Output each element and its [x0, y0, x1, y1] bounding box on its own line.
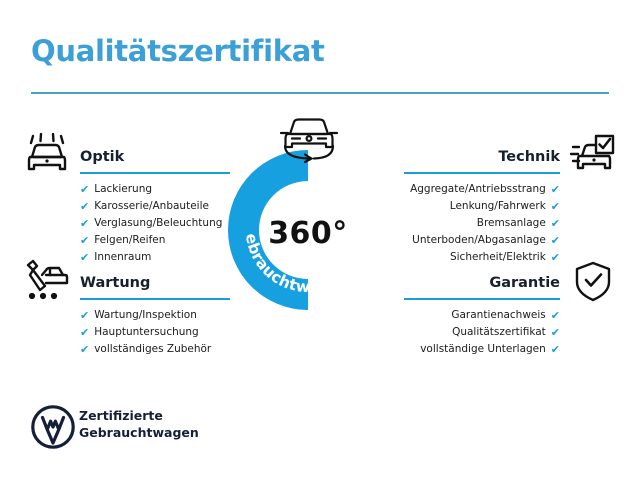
check-icon: ✔: [80, 181, 89, 198]
list-item-label: Unterboden/Abgasanlage: [412, 232, 546, 249]
check-icon: ✔: [551, 249, 560, 266]
car-checkbox-icon: [569, 134, 615, 176]
list-item: Lenkung/Fahrwerk✔: [404, 198, 560, 215]
list-item: ✔Lackierung: [80, 181, 230, 198]
car-rotation-icon: [274, 113, 344, 165]
list-item-label: Innenraum: [94, 249, 151, 266]
header-divider: [31, 92, 609, 94]
section-garantie: Garantie Garantienachweis✔ Qualitätszert…: [404, 266, 560, 358]
section-technik-title: Technik: [498, 149, 560, 165]
list-item-label: Wartung/Inspektion: [94, 307, 197, 324]
list-item-label: Sicherheit/Elektrik: [450, 249, 546, 266]
badge-360-gebrauchtwagen-check: Gebrauchtwagen-Check 360°: [228, 150, 388, 310]
page-title: Qualitätszertifikat: [31, 34, 325, 68]
section-optik-title: Optik: [80, 149, 124, 165]
section-wartung-items: ✔Wartung/Inspektion ✔Hauptuntersuchung ✔…: [80, 307, 230, 358]
check-icon: ✔: [551, 307, 560, 324]
check-icon: ✔: [80, 307, 89, 324]
section-wartung-underline: [80, 298, 230, 300]
list-item: Bremsanlage✔: [404, 215, 560, 232]
section-technik-items: Aggregate/Antriebsstrang✔ Lenkung/Fahrwe…: [404, 181, 560, 266]
list-item-label: Garantienachweis: [451, 307, 545, 324]
badge-degree-label: 360°: [228, 150, 388, 310]
list-item: ✔vollständiges Zubehör: [80, 341, 230, 358]
section-optik-header: Optik: [80, 140, 230, 174]
check-icon: ✔: [551, 232, 560, 249]
check-icon: ✔: [80, 324, 89, 341]
list-item-label: Karosserie/Anbauteile: [94, 198, 209, 215]
list-item-label: vollständige Unterlagen: [420, 341, 546, 358]
check-icon: ✔: [551, 341, 560, 358]
list-item: Sicherheit/Elektrik✔: [404, 249, 560, 266]
check-icon: ✔: [551, 215, 560, 232]
vw-logo: [31, 405, 75, 453]
section-optik: Optik ✔Lackierung ✔Karosserie/Anbauteile…: [80, 140, 230, 266]
list-item-label: Lenkung/Fahrwerk: [450, 198, 546, 215]
footer-logo-text: Zertifizierte Gebrauchtwagen: [79, 408, 199, 441]
check-icon: ✔: [551, 181, 560, 198]
list-item-label: Felgen/Reifen: [94, 232, 165, 249]
section-wartung: Wartung ✔Wartung/Inspektion ✔Hauptunters…: [80, 266, 230, 358]
check-icon: ✔: [80, 232, 89, 249]
certificate-page: Qualitätszertifikat Optik ✔Lackierung: [0, 0, 640, 480]
list-item-label: Qualitätszertifikat: [452, 324, 546, 341]
list-item-label: Aggregate/Antriebsstrang: [410, 181, 546, 198]
list-item: Aggregate/Antriebsstrang✔: [404, 181, 560, 198]
section-technik: Technik Aggregate/Antriebsstrang✔ Lenkun…: [404, 140, 560, 266]
car-front-shine-icon: [24, 133, 70, 175]
list-item: ✔Wartung/Inspektion: [80, 307, 230, 324]
check-icon: ✔: [80, 341, 89, 358]
list-item: vollständige Unterlagen✔: [404, 341, 560, 358]
shield-check-icon: [573, 261, 613, 303]
section-optik-items: ✔Lackierung ✔Karosserie/Anbauteile ✔Verg…: [80, 181, 230, 266]
section-garantie-header: Garantie: [404, 266, 560, 300]
list-item: ✔Verglasung/Beleuchtung: [80, 215, 230, 232]
section-technik-underline: [404, 172, 560, 174]
section-garantie-title: Garantie: [489, 275, 560, 291]
list-item: ✔Hauptuntersuchung: [80, 324, 230, 341]
car-service-tool-icon: [24, 259, 70, 303]
list-item-label: vollständiges Zubehör: [94, 341, 211, 358]
check-icon: ✔: [80, 215, 89, 232]
check-icon: ✔: [80, 249, 89, 266]
list-item: Unterboden/Abgasanlage✔: [404, 232, 560, 249]
section-optik-underline: [80, 172, 230, 174]
list-item-label: Bremsanlage: [477, 215, 546, 232]
check-icon: ✔: [551, 198, 560, 215]
list-item-label: Lackierung: [94, 181, 152, 198]
check-icon: ✔: [80, 198, 89, 215]
list-item: ✔Felgen/Reifen: [80, 232, 230, 249]
section-garantie-underline: [404, 298, 560, 300]
list-item: ✔Innenraum: [80, 249, 230, 266]
check-icon: ✔: [551, 324, 560, 341]
list-item: Qualitätszertifikat✔: [404, 324, 560, 341]
list-item-label: Hauptuntersuchung: [94, 324, 199, 341]
footer-logo-line2: Gebrauchtwagen: [79, 425, 199, 442]
section-garantie-items: Garantienachweis✔ Qualitätszertifikat✔ v…: [404, 307, 560, 358]
footer-logo-line1: Zertifizierte: [79, 408, 199, 425]
list-item-label: Verglasung/Beleuchtung: [94, 215, 222, 232]
list-item: Garantienachweis✔: [404, 307, 560, 324]
section-technik-header: Technik: [404, 140, 560, 174]
section-wartung-header: Wartung: [80, 266, 230, 300]
list-item: ✔Karosserie/Anbauteile: [80, 198, 230, 215]
section-wartung-title: Wartung: [80, 275, 150, 291]
